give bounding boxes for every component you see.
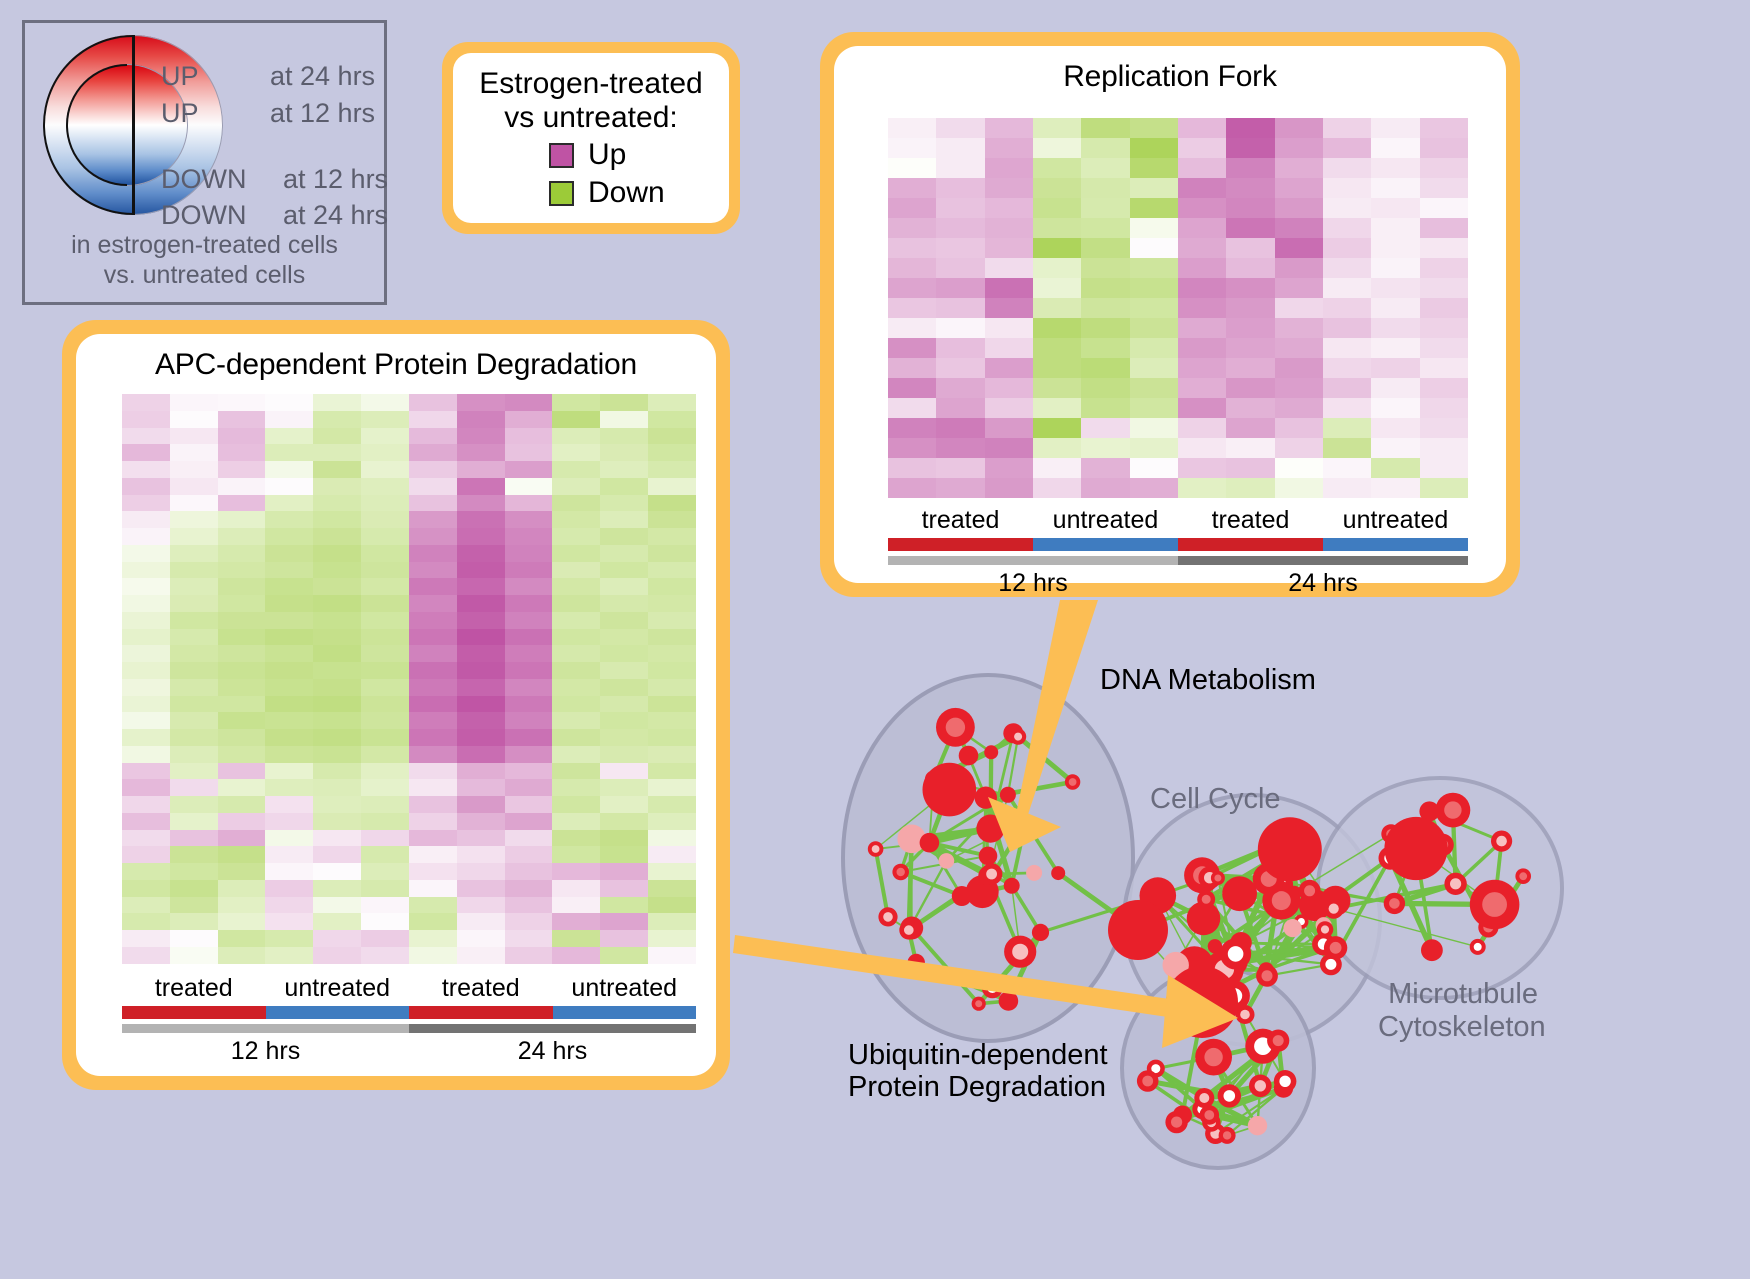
heatmap-cell <box>985 358 1033 378</box>
heatmap-cell <box>313 394 361 411</box>
heatmap-cell <box>122 478 170 495</box>
network-node[interactable] <box>1018 814 1033 829</box>
heatmap-cell <box>170 930 218 947</box>
heatmap-row <box>888 238 1468 258</box>
heatmap-cell <box>888 118 936 138</box>
heatmap-cell <box>122 779 170 796</box>
heatmap-cell <box>218 796 266 813</box>
up-color-swatch <box>549 143 574 168</box>
heatmap-cell <box>600 846 648 863</box>
heatmap-cell <box>1275 398 1323 418</box>
heatmap-cell <box>122 662 170 679</box>
heatmap-cell <box>600 411 648 428</box>
heatmap-cell <box>552 863 600 880</box>
heatmap-cell <box>122 629 170 646</box>
heatmap-cell <box>936 258 984 278</box>
heatmap-cell <box>600 511 648 528</box>
heatmap-cell <box>265 897 313 914</box>
heatmap-cell <box>265 528 313 545</box>
network-node[interactable] <box>1384 817 1447 880</box>
heatmap-cell <box>648 578 696 595</box>
heatmap-row <box>122 897 696 914</box>
heatmap-cell <box>313 578 361 595</box>
axis-group-swatch <box>409 1006 553 1019</box>
heatmap-cell <box>600 394 648 411</box>
heatmap-cell <box>457 428 505 445</box>
heatmap-cell <box>888 198 936 218</box>
heatmap-cell <box>888 338 936 358</box>
network-node[interactable] <box>923 763 977 817</box>
heatmap-cell <box>122 763 170 780</box>
heatmap-cell <box>122 880 170 897</box>
network-node[interactable] <box>979 847 998 866</box>
heatmap-cell <box>552 712 600 729</box>
heatmap-cell <box>1323 378 1371 398</box>
heatmap-cell <box>1081 398 1129 418</box>
heatmap-cell <box>1130 278 1178 298</box>
heatmap-cell <box>457 846 505 863</box>
heatmap-cell <box>985 258 1033 278</box>
heatmap-cell <box>265 696 313 713</box>
network-node[interactable] <box>939 853 955 869</box>
heatmap-cell <box>888 478 936 498</box>
heatmap-cell <box>552 528 600 545</box>
legend-label-down: Down <box>588 176 665 210</box>
heatmap-cell <box>552 411 600 428</box>
heatmap-cell <box>648 444 696 461</box>
wheel-state-up-24: UP <box>161 61 199 92</box>
heatmap-cell <box>1226 318 1274 338</box>
axis-group-label: treated <box>122 974 266 1003</box>
heatmap-row <box>888 418 1468 438</box>
network-node[interactable] <box>959 746 979 766</box>
heatmap-row <box>888 378 1468 398</box>
network-node-core <box>1273 1035 1284 1046</box>
heatmap-cell <box>505 897 553 914</box>
heatmap-cell <box>218 930 266 947</box>
heatmap-cell <box>505 796 553 813</box>
heatmap-cell <box>936 158 984 178</box>
heatmap-cell <box>1081 478 1129 498</box>
heatmap-cell <box>313 763 361 780</box>
heatmap-cell <box>1420 158 1468 178</box>
heatmap-cell <box>122 528 170 545</box>
heatmap-cell <box>1323 458 1371 478</box>
heatmap-cell <box>122 545 170 562</box>
heatmap-cell <box>936 318 984 338</box>
heatmap-cell <box>1226 398 1274 418</box>
network-node[interactable] <box>1108 900 1168 960</box>
heatmap-cell <box>122 863 170 880</box>
heatmap-cell <box>361 394 409 411</box>
heatmap-cell <box>218 712 266 729</box>
heatmap-cell <box>1033 158 1081 178</box>
heatmap-cell <box>170 545 218 562</box>
wheel-time-down-12: at 12 hrs <box>283 164 388 195</box>
cluster-label-dna-metabolism: DNA Metabolism <box>1100 664 1316 697</box>
heatmap-cell <box>552 947 600 964</box>
heatmap-cell <box>122 930 170 947</box>
heatmap-cell <box>170 947 218 964</box>
heatmap-row <box>122 595 696 612</box>
heatmap-row <box>888 278 1468 298</box>
heatmap-cell <box>936 338 984 358</box>
heatmap-cell <box>409 863 457 880</box>
heatmap-cell <box>1130 458 1178 478</box>
heatmap-cell <box>1323 178 1371 198</box>
heatmap-cell <box>648 511 696 528</box>
heatmap-cell <box>505 930 553 947</box>
axis-time-label: 12 hrs <box>888 569 1178 598</box>
heatmap-row <box>122 444 696 461</box>
heatmap-cell <box>265 478 313 495</box>
heatmap-cell <box>1420 118 1468 138</box>
network-node[interactable] <box>1284 919 1302 937</box>
axis-time-swatch <box>888 556 1178 565</box>
heatmap-row <box>888 478 1468 498</box>
heatmap-cell <box>1226 218 1274 238</box>
heatmap-cell <box>313 830 361 847</box>
heatmap-cell <box>1033 398 1081 418</box>
heatmap-cell <box>170 629 218 646</box>
heatmap-cell <box>1323 418 1371 438</box>
heatmap-cell <box>600 478 648 495</box>
heatmap-cell <box>552 796 600 813</box>
heatmap-cell <box>361 880 409 897</box>
network-node[interactable] <box>999 991 1019 1011</box>
cluster-label-microtubule-cytoskeleton: Microtubule Cytoskeleton <box>1378 978 1538 1044</box>
heatmap-cell <box>218 545 266 562</box>
heatmap-cell <box>218 461 266 478</box>
heatmap-cell <box>457 796 505 813</box>
colorwheel-legend: UP at 24 hrs UP at 12 hrs DOWN at 12 hrs… <box>22 20 387 305</box>
heatmap-cell <box>361 478 409 495</box>
heatmap-cell <box>648 428 696 445</box>
heatmap-cell <box>457 394 505 411</box>
network-node-core <box>975 1000 982 1007</box>
heatmap-cell <box>313 897 361 914</box>
heatmap-cell <box>600 629 648 646</box>
heatmap-cell <box>600 444 648 461</box>
heatmap-cell <box>1420 138 1468 158</box>
heatmap-cell <box>936 218 984 238</box>
heatmap-cell <box>361 444 409 461</box>
heatmap-cell <box>552 880 600 897</box>
network-node-core <box>1014 733 1022 741</box>
heatmap-cell <box>122 612 170 629</box>
heatmap-cell <box>505 528 553 545</box>
network-node[interactable] <box>1248 1116 1267 1135</box>
network-node[interactable] <box>976 815 1004 843</box>
heatmap-cell <box>170 411 218 428</box>
heatmap-cell <box>122 897 170 914</box>
heatmap-cell <box>1275 378 1323 398</box>
heatmap-cell <box>936 138 984 158</box>
heatmap-cell <box>888 318 936 338</box>
network-node-core <box>1450 878 1461 889</box>
network-node-core <box>1304 885 1315 896</box>
heatmap-cell <box>313 779 361 796</box>
network-node[interactable] <box>1000 787 1016 803</box>
network-node[interactable] <box>1032 924 1049 941</box>
heatmap-cell <box>888 398 936 418</box>
network-node[interactable] <box>1258 817 1322 881</box>
heatmap-cell <box>457 645 505 662</box>
heatmap-cell <box>1081 278 1129 298</box>
heatmap-cell <box>1420 238 1468 258</box>
heatmap-cell <box>1033 218 1081 238</box>
heatmap-cell <box>552 545 600 562</box>
heatmap-cell <box>313 629 361 646</box>
heatmap-cell <box>936 358 984 378</box>
heatmap-cell <box>409 897 457 914</box>
heatmap-cell <box>409 796 457 813</box>
heatmap-row <box>888 218 1468 238</box>
heatmap-cell <box>648 947 696 964</box>
heatmap-cell <box>648 729 696 746</box>
heatmap-cell <box>1130 378 1178 398</box>
heatmap-cell <box>552 461 600 478</box>
network-node-core <box>1171 1117 1182 1128</box>
heatmap-cell <box>1275 458 1323 478</box>
heatmap-cell <box>552 645 600 662</box>
heatmap-cell <box>409 779 457 796</box>
heatmap-cell <box>218 595 266 612</box>
network-node-core <box>946 718 965 737</box>
heatmap-row <box>122 528 696 545</box>
replication-fork-heatmap <box>888 118 1468 498</box>
heatmap-cell <box>1371 258 1419 278</box>
heatmap-cell <box>409 394 457 411</box>
heatmap-cell <box>170 813 218 830</box>
heatmap-cell <box>505 411 553 428</box>
heatmap-cell <box>505 729 553 746</box>
heatmap-cell <box>218 729 266 746</box>
heatmap-cell <box>265 947 313 964</box>
heatmap-cell <box>361 679 409 696</box>
heatmap-row <box>122 779 696 796</box>
wheel-time-up-24: at 24 hrs <box>270 61 375 92</box>
heatmap-cell <box>218 746 266 763</box>
heatmap-cell <box>936 198 984 218</box>
heatmap-cell <box>409 746 457 763</box>
heatmap-cell <box>1033 258 1081 278</box>
heatmap-cell <box>409 578 457 595</box>
heatmap-cell <box>170 662 218 679</box>
heatmap-cell <box>648 662 696 679</box>
heatmap-cell <box>1178 118 1226 138</box>
heatmap-cell <box>1226 338 1274 358</box>
heatmap-row <box>888 438 1468 458</box>
heatmap-cell <box>457 528 505 545</box>
heatmap-cell <box>1371 298 1419 318</box>
heatmap-cell <box>170 428 218 445</box>
heatmap-cell <box>313 478 361 495</box>
estrogen-legend-heading: Estrogen-treated vs untreated: <box>463 67 719 134</box>
heatmap-cell <box>1371 158 1419 178</box>
network-node[interactable] <box>1026 865 1042 881</box>
heatmap-cell <box>313 913 361 930</box>
heatmap-cell <box>1226 418 1274 438</box>
heatmap-cell <box>313 528 361 545</box>
wheel-state-up-12: UP <box>161 98 199 129</box>
network-node[interactable] <box>1051 866 1065 880</box>
network-node[interactable] <box>1421 939 1443 961</box>
heatmap-cell <box>1130 198 1178 218</box>
heatmap-cell <box>1420 198 1468 218</box>
heatmap-cell <box>457 712 505 729</box>
heatmap-row <box>122 645 696 662</box>
heatmap-cell <box>361 612 409 629</box>
heatmap-cell <box>457 863 505 880</box>
heatmap-cell <box>505 629 553 646</box>
heatmap-cell <box>265 679 313 696</box>
heatmap-cell <box>1323 338 1371 358</box>
heatmap-cell <box>600 428 648 445</box>
heatmap-cell <box>600 830 648 847</box>
heatmap-cell <box>600 595 648 612</box>
heatmap-cell <box>122 846 170 863</box>
axis-group-label: treated <box>1178 506 1323 535</box>
wheel-time-up-12: at 12 hrs <box>270 98 375 129</box>
heatmap-cell <box>1178 138 1226 158</box>
heatmap-cell <box>1130 298 1178 318</box>
heatmap-cell <box>218 629 266 646</box>
heatmap-cell <box>313 662 361 679</box>
heatmap-cell <box>409 696 457 713</box>
heatmap-cell <box>122 428 170 445</box>
replication-fork-axis: treateduntreatedtreateduntreated 12 hrs2… <box>888 506 1468 598</box>
heatmap-cell <box>409 411 457 428</box>
heatmap-cell <box>122 746 170 763</box>
heatmap-cell <box>1033 318 1081 338</box>
heatmap-row <box>122 763 696 780</box>
heatmap-cell <box>170 746 218 763</box>
heatmap-cell <box>170 528 218 545</box>
network-node[interactable] <box>1222 876 1257 911</box>
axis-group-swatch <box>1178 538 1323 551</box>
heatmap-cell <box>648 746 696 763</box>
network-node-core <box>897 868 905 876</box>
heatmap-cell <box>600 495 648 512</box>
heatmap-cell <box>122 830 170 847</box>
heatmap-cell <box>1033 358 1081 378</box>
heatmap-cell <box>1275 138 1323 158</box>
heatmap-cell <box>409 830 457 847</box>
axis-group-swatch <box>1033 538 1178 551</box>
heatmap-cell <box>505 813 553 830</box>
heatmap-cell <box>361 645 409 662</box>
heatmap-row <box>888 458 1468 478</box>
network-node[interactable] <box>920 833 940 853</box>
heatmap-cell <box>1226 198 1274 218</box>
heatmap-cell <box>1033 298 1081 318</box>
heatmap-cell <box>170 495 218 512</box>
heatmap-cell <box>1178 358 1226 378</box>
heatmap-cell <box>1420 258 1468 278</box>
heatmap-cell <box>265 662 313 679</box>
heatmap-cell <box>1130 358 1178 378</box>
heatmap-cell <box>552 729 600 746</box>
heatmap-cell <box>218 846 266 863</box>
heatmap-row <box>122 830 696 847</box>
heatmap-cell <box>505 830 553 847</box>
heatmap-cell <box>361 428 409 445</box>
heatmap-cell <box>552 478 600 495</box>
heatmap-cell <box>265 813 313 830</box>
heatmap-row <box>122 712 696 729</box>
heatmap-cell <box>457 813 505 830</box>
heatmap-cell <box>1371 398 1419 418</box>
heatmap-cell <box>648 846 696 863</box>
heatmap-cell <box>265 846 313 863</box>
heatmap-cell <box>1275 478 1323 498</box>
heatmap-cell <box>170 578 218 595</box>
heatmap-cell <box>122 578 170 595</box>
network-node-core <box>1389 898 1400 909</box>
network-node[interactable] <box>1004 878 1020 894</box>
network-node[interactable] <box>984 745 998 759</box>
heatmap-cell <box>552 562 600 579</box>
heatmap-cell <box>552 763 600 780</box>
heatmap-cell <box>457 930 505 947</box>
heatmap-cell <box>170 913 218 930</box>
heatmap-cell <box>457 461 505 478</box>
heatmap-row <box>888 398 1468 418</box>
heatmap-cell <box>1323 278 1371 298</box>
heatmap-cell <box>361 863 409 880</box>
heatmap-cell <box>648 779 696 796</box>
heatmap-cell <box>122 813 170 830</box>
heatmap-cell <box>409 712 457 729</box>
network-node[interactable] <box>975 787 997 809</box>
heatmap-cell <box>1033 138 1081 158</box>
axis-group-labels: treateduntreatedtreateduntreated <box>888 506 1468 535</box>
heatmap-cell <box>361 495 409 512</box>
heatmap-cell <box>361 712 409 729</box>
heatmap-cell <box>888 458 936 478</box>
network-node-core <box>1214 875 1221 882</box>
heatmap-cell <box>600 528 648 545</box>
heatmap-cell <box>265 746 313 763</box>
heatmap-cell <box>409 629 457 646</box>
heatmap-cell <box>457 763 505 780</box>
heatmap-cell <box>1275 438 1323 458</box>
heatmap-cell <box>409 813 457 830</box>
heatmap-cell <box>218 679 266 696</box>
heatmap-cell <box>1371 378 1419 398</box>
heatmap-cell <box>1226 158 1274 178</box>
heatmap-cell <box>457 511 505 528</box>
heatmap-cell <box>985 298 1033 318</box>
heatmap-cell <box>648 763 696 780</box>
heatmap-cell <box>1081 238 1129 258</box>
network-node-core <box>1330 942 1342 954</box>
heatmap-cell <box>122 461 170 478</box>
heatmap-cell <box>170 846 218 863</box>
heatmap-cell <box>218 444 266 461</box>
heatmap-cell <box>1420 438 1468 458</box>
heatmap-cell <box>122 729 170 746</box>
network-node[interactable] <box>908 954 925 971</box>
heatmap-cell <box>409 595 457 612</box>
heatmap-cell <box>409 947 457 964</box>
heatmap-cell <box>265 545 313 562</box>
heatmap-cell <box>218 562 266 579</box>
network-node[interactable] <box>1166 966 1238 1038</box>
axis-time-label: 24 hrs <box>409 1037 696 1066</box>
heatmap-cell <box>552 779 600 796</box>
